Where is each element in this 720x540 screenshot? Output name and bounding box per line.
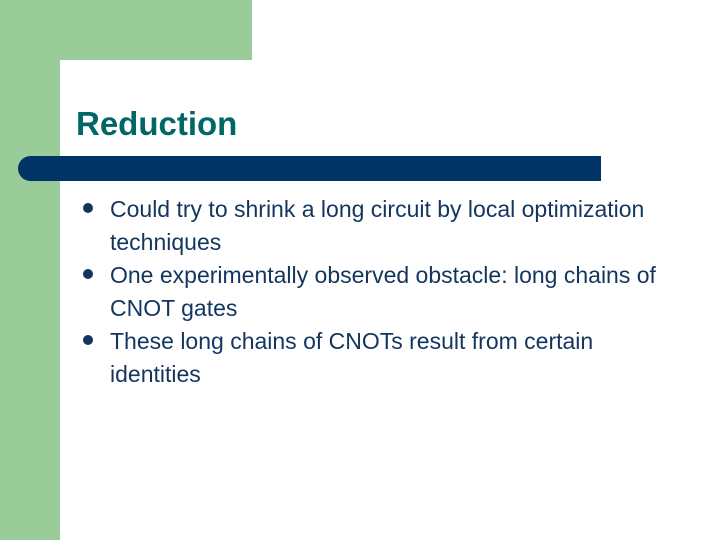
page-title: Reduction [76, 104, 237, 144]
bullet-disc-icon [83, 203, 93, 213]
list-item-text: Could try to shrink a long circuit by lo… [110, 193, 680, 259]
list-item: Could try to shrink a long circuit by lo… [80, 193, 680, 259]
bullet-disc-icon [83, 335, 93, 345]
list-item: One experimentally observed obstacle: lo… [80, 259, 680, 325]
bullet-list: Could try to shrink a long circuit by lo… [80, 193, 680, 391]
list-item-text: These long chains of CNOTs result from c… [110, 325, 680, 391]
list-item-text: One experimentally observed obstacle: lo… [110, 259, 680, 325]
list-item: These long chains of CNOTs result from c… [80, 325, 680, 391]
slide-canvas: Reduction Could try to shrink a long cir… [0, 0, 720, 540]
decor-green-strip [0, 0, 60, 540]
title-divider-bar [18, 156, 601, 181]
bullet-disc-icon [83, 269, 93, 279]
